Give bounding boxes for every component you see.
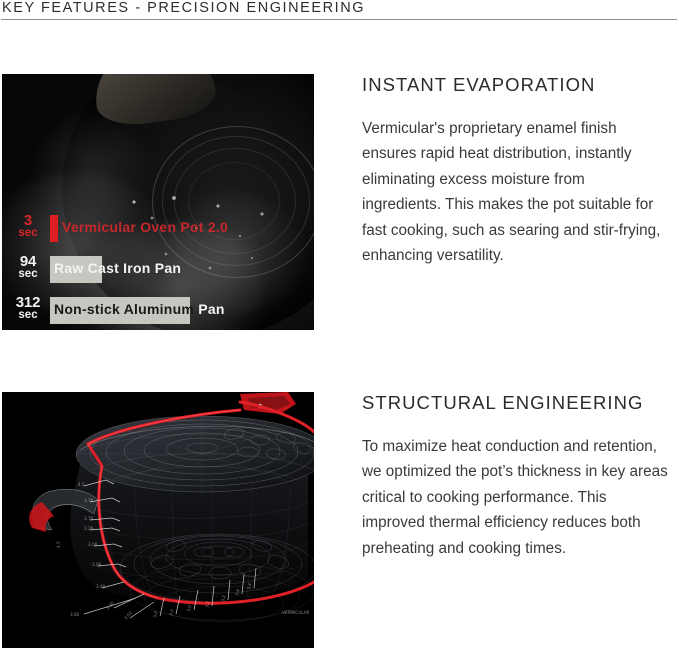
svg-text:3.00: 3.00 — [88, 542, 98, 547]
page-title: KEY FEATURES - PRECISION ENGINEERING — [2, 0, 365, 16]
chart-bar-label-text: Vermicular Oven Pot 2.0 — [62, 219, 228, 235]
header-divider — [1, 19, 677, 20]
feature-heading: STRUCTURAL ENGINEERING — [362, 392, 678, 414]
chart-tick-unit: sec — [10, 227, 46, 240]
chart-bar-label: Non-stick Aluminum Pan — [54, 301, 225, 317]
chart-bar — [50, 215, 58, 242]
evaporation-bar-chart: 3 sec Vermicular Oven Pot 2.0 94 sec Raw… — [2, 214, 314, 330]
svg-text:3.70: 3.70 — [84, 498, 94, 503]
chart-tick-label: 94 sec — [10, 255, 46, 281]
chart-bar-label-overflow: Pan — [194, 301, 225, 317]
pot-wireframe-cad-diagram: 4.5 3.70 3.70 3.20 3.00 3.00 3.40 3.80 3… — [2, 392, 314, 648]
section-header: KEY FEATURES - PRECISION ENGINEERING — [0, 0, 679, 20]
feature-body: Vermicular's proprietary enamel finish e… — [362, 116, 668, 268]
chart-bar-label: Raw Cast Iron Pan — [54, 260, 181, 276]
chart-row: 94 sec Raw Cast Iron Pan — [2, 255, 314, 285]
chart-tick-label: 312 sec — [10, 296, 46, 322]
chart-bar-label: Vermicular Oven Pot 2.0 — [62, 219, 228, 235]
feature-copy-structural-engineering: STRUCTURAL ENGINEERING To maximize heat … — [362, 392, 678, 561]
svg-text:3.40: 3.40 — [96, 584, 106, 589]
chart-tick-value: 94 — [10, 255, 46, 268]
chart-tick-value: 312 — [10, 296, 46, 309]
feature-body: To maximize heat conduction and retentio… — [362, 434, 668, 561]
chart-row: 312 sec Non-stick Aluminum Pan — [2, 296, 314, 326]
cad-wireframe-svg: 4.5 3.70 3.70 3.20 3.00 3.00 3.40 3.80 3… — [2, 392, 314, 648]
feature-image-instant-evaporation: 3 sec Vermicular Oven Pot 2.0 94 sec Raw… — [2, 74, 314, 330]
svg-text:3.20: 3.20 — [84, 526, 94, 531]
chart-bar-label-on-bar: Non-stick Aluminum — [54, 301, 194, 317]
svg-text:3.70: 3.70 — [84, 516, 94, 521]
chart-row: 3 sec Vermicular Oven Pot 2.0 — [2, 214, 314, 244]
svg-text:3.80: 3.80 — [70, 612, 80, 617]
chart-tick-value: 3 — [10, 214, 46, 227]
feature-heading: INSTANT EVAPORATION — [362, 74, 678, 96]
chart-tick-label: 3 sec — [10, 214, 46, 240]
chart-tick-unit: sec — [10, 268, 46, 281]
feature-copy-instant-evaporation: INSTANT EVAPORATION Vermicular's proprie… — [362, 74, 678, 268]
svg-text:4.5: 4.5 — [56, 541, 61, 548]
chart-bar-label-text: Raw Cast Iron Pan — [54, 260, 181, 276]
svg-text:4.5: 4.5 — [78, 482, 85, 487]
feature-image-structural-engineering: 4.5 3.70 3.70 3.20 3.00 3.00 3.40 3.80 3… — [2, 392, 314, 648]
svg-text:3.00: 3.00 — [92, 562, 102, 567]
svg-text:VERMICULAR: VERMICULAR — [282, 610, 310, 615]
